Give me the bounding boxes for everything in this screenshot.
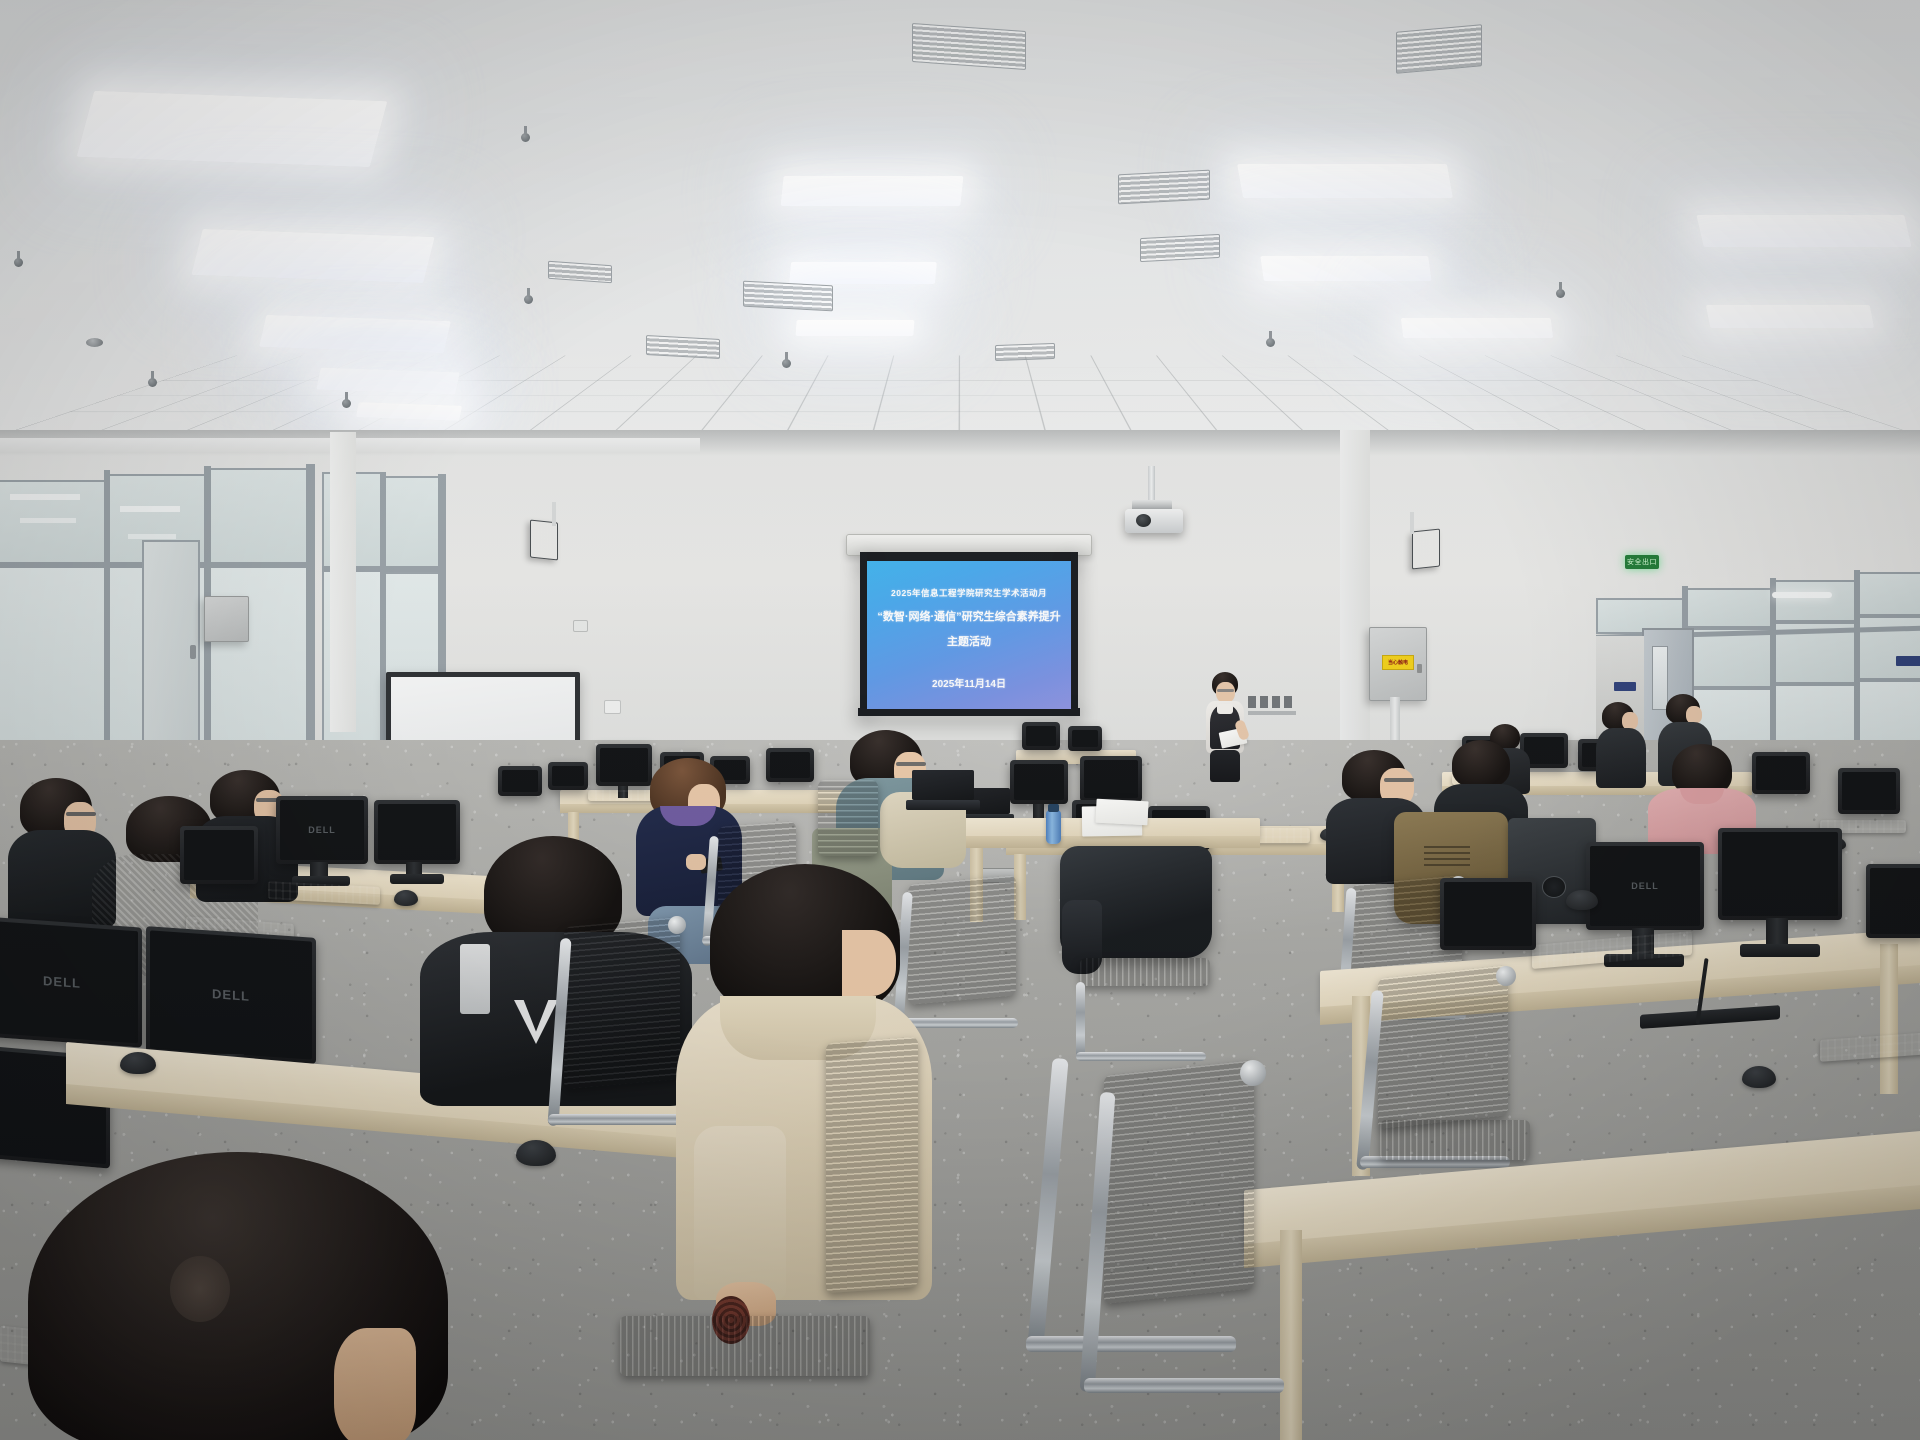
chair-seat[interactable] bbox=[620, 1316, 870, 1376]
ceiling-smoke-detector bbox=[86, 338, 103, 347]
sprinkler-head bbox=[1556, 289, 1565, 298]
room-plate-small bbox=[1614, 682, 1636, 691]
chair[interactable] bbox=[1080, 958, 1210, 986]
monitor bbox=[766, 748, 814, 782]
monitor: DELL bbox=[0, 916, 142, 1047]
wall-logo-subtext bbox=[1248, 711, 1296, 715]
monitor: DELL bbox=[146, 926, 316, 1064]
chair-pivot bbox=[1496, 966, 1516, 986]
monitor bbox=[180, 826, 258, 884]
monitor bbox=[1440, 878, 1536, 950]
chair-frame bbox=[548, 1114, 684, 1125]
jacket-print bbox=[1424, 846, 1470, 868]
chair[interactable] bbox=[1104, 1060, 1254, 1304]
speaker-bracket-left bbox=[552, 502, 556, 526]
ceiling-projector bbox=[1125, 509, 1183, 533]
sprinkler-head bbox=[1266, 338, 1275, 347]
chair-seat[interactable] bbox=[1380, 1120, 1530, 1160]
monitor bbox=[1866, 864, 1920, 938]
wall-column-right bbox=[1340, 430, 1370, 760]
backpack-patch bbox=[1542, 876, 1566, 898]
desk-leg bbox=[1880, 944, 1898, 1094]
monitor bbox=[1752, 752, 1810, 794]
monitor bbox=[498, 766, 542, 796]
slide-line-2: “数智·网络·通信”研究生综合素养提升 bbox=[877, 608, 1060, 624]
slide-line-1: 2025年信息工程学院研究生学术活动月 bbox=[891, 587, 1047, 599]
standing-presenter bbox=[1196, 672, 1252, 782]
water-bottle[interactable] bbox=[1046, 810, 1061, 844]
monitor-brand-label: DELL bbox=[308, 825, 336, 835]
chair[interactable] bbox=[1378, 965, 1508, 1129]
chair-frame bbox=[1084, 1378, 1284, 1393]
ceiling-light-panel bbox=[1401, 318, 1553, 338]
ceiling-light-panel bbox=[1260, 256, 1432, 281]
mouse[interactable] bbox=[394, 890, 418, 906]
projector-lens bbox=[1136, 514, 1151, 527]
ceiling-air-vent bbox=[646, 335, 720, 359]
exit-sign: 安全出口 bbox=[1625, 555, 1659, 569]
monitor-brand-label: DELL bbox=[1631, 881, 1659, 891]
sprinkler-head bbox=[342, 399, 351, 408]
ceiling-light-panel bbox=[789, 262, 937, 284]
projection-screen-side-left bbox=[860, 552, 867, 714]
desk-papers[interactable] bbox=[1095, 799, 1148, 826]
chair-frame bbox=[1026, 1336, 1236, 1352]
electrical-warning-label: 当心触电 bbox=[1382, 655, 1414, 670]
monitor bbox=[1068, 726, 1102, 751]
bottle-cap bbox=[1048, 804, 1059, 812]
projection-screen-side-right bbox=[1071, 552, 1078, 714]
ceiling-air-vent bbox=[743, 281, 833, 312]
ceiling-light-panel bbox=[780, 176, 963, 206]
slide-line-3: 主题活动 bbox=[947, 633, 991, 649]
projection-screen-frame bbox=[860, 552, 1078, 561]
ceiling-light-panel bbox=[795, 320, 914, 336]
desk-leg bbox=[1280, 1230, 1302, 1440]
electrical-cabinet-left bbox=[204, 596, 249, 642]
wall-sensor-left bbox=[573, 620, 588, 632]
ceiling-air-vent bbox=[1118, 170, 1210, 205]
monitor bbox=[1718, 828, 1842, 920]
chair-frame bbox=[1076, 1052, 1206, 1061]
student-foreground-head bbox=[28, 1152, 448, 1440]
monitor bbox=[548, 762, 588, 790]
ceiling-light-panel bbox=[1706, 305, 1874, 328]
monitor: DELL bbox=[276, 796, 368, 864]
mouse[interactable] bbox=[516, 1140, 556, 1166]
student-far-right-a bbox=[1596, 702, 1650, 788]
sprinkler-head bbox=[148, 378, 157, 387]
speaker-bracket-right bbox=[1410, 512, 1414, 534]
ceiling-air-vent bbox=[912, 23, 1026, 70]
monitor: DELL bbox=[1586, 842, 1704, 930]
ceiling-air-vent bbox=[1140, 234, 1220, 262]
ceiling-light-panel bbox=[191, 229, 434, 283]
monitor bbox=[1022, 722, 1060, 750]
monitor bbox=[1010, 760, 1068, 804]
ceiling-light-panel bbox=[1237, 164, 1453, 198]
chair-frame bbox=[1076, 982, 1085, 1058]
door-handle-left[interactable] bbox=[190, 645, 196, 659]
projection-screen-surface: 2025年信息工程学院研究生学术活动月 “数智·网络·通信”研究生综合素养提升 … bbox=[867, 561, 1071, 709]
sprinkler-head bbox=[521, 133, 530, 142]
wall-logo-plate bbox=[1248, 696, 1296, 708]
mouse[interactable] bbox=[1742, 1066, 1776, 1088]
chair[interactable] bbox=[826, 1037, 918, 1293]
ceiling-light-panel bbox=[77, 91, 388, 167]
mouse[interactable] bbox=[1566, 890, 1598, 910]
wall-speaker-right bbox=[1412, 529, 1440, 570]
monitor-base bbox=[1740, 944, 1820, 957]
sprinkler-head bbox=[14, 258, 23, 267]
monitor bbox=[1080, 756, 1142, 802]
chair[interactable] bbox=[818, 780, 878, 856]
sprinkler-head bbox=[524, 295, 533, 304]
chair-pivot bbox=[1240, 1060, 1266, 1086]
cabinet-lock[interactable] bbox=[1417, 664, 1422, 673]
projection-screen-bottom-bar bbox=[858, 708, 1080, 716]
classroom-scene: 2025年信息工程学院研究生学术活动月 “数智·网络·通信”研究生综合素养提升 … bbox=[0, 0, 1920, 1440]
monitor bbox=[1838, 768, 1900, 814]
ceiling-light-panel bbox=[259, 315, 451, 353]
mouse[interactable] bbox=[120, 1052, 156, 1074]
slide-date: 2025年11月14日 bbox=[932, 675, 1006, 690]
ceiling-air-vent bbox=[995, 343, 1055, 361]
ceiling-light-panel bbox=[1696, 215, 1911, 247]
laptop-teal-desk[interactable] bbox=[906, 770, 978, 810]
electrical-cabinet-right[interactable]: 当心触电 bbox=[1369, 627, 1427, 701]
wall-switch-left bbox=[604, 700, 621, 714]
monitor-brand-label: DELL bbox=[43, 973, 81, 991]
chair[interactable] bbox=[564, 917, 680, 1089]
wall-column-left bbox=[330, 432, 356, 732]
ceiling-air-vent bbox=[1396, 24, 1482, 74]
room-plate bbox=[1896, 656, 1920, 666]
sprinkler-head bbox=[782, 359, 791, 368]
monitor-brand-label: DELL bbox=[212, 986, 250, 1004]
